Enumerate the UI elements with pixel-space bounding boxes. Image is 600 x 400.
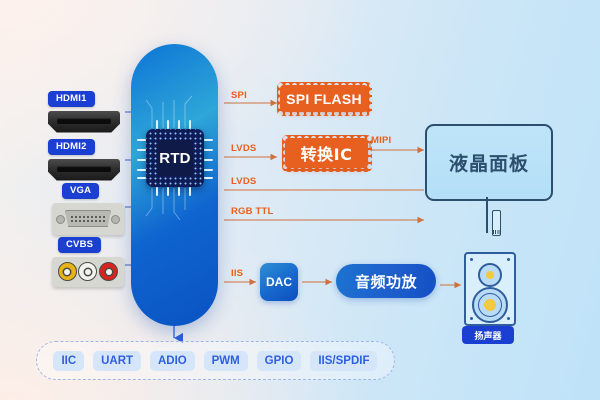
signal-label-spi: SPI (231, 90, 247, 101)
dac-label: DAC (266, 275, 292, 289)
peripheral-iis-spdif[interactable]: IIS/SPDIF (310, 351, 377, 371)
vga-port-icon (52, 203, 124, 235)
input-hdmi1[interactable]: HDMI1 (48, 88, 120, 133)
audio-amplifier-label: 音频功放 (355, 271, 417, 292)
speaker-icon[interactable] (464, 252, 516, 326)
signal-label-iis: IIS (231, 268, 243, 279)
rca-yellow-icon (58, 262, 77, 281)
lcd-backlight-tube-icon (492, 210, 501, 236)
peripheral-pwm[interactable]: PWM (204, 351, 248, 371)
rca-white-icon (78, 262, 97, 281)
peripheral-gpio[interactable]: GPIO (257, 351, 302, 371)
signal-label-mipi: MIPI (371, 135, 391, 146)
spi-flash-label: SPI FLASH (280, 85, 368, 112)
input-vga[interactable]: VGA (52, 180, 124, 235)
signal-label-rgb-ttl: RGB TTL (231, 206, 274, 217)
input-cvbs[interactable]: CVBS (52, 234, 124, 287)
rca-red-icon (99, 262, 118, 281)
input-hdmi2-badge: HDMI2 (48, 139, 95, 155)
block-dac[interactable]: DAC (260, 263, 298, 301)
signal-label-lvds-1: LVDS (231, 143, 256, 154)
input-cvbs-badge: CVBS (58, 237, 101, 253)
cvbs-port-icon (52, 257, 124, 287)
block-lcd-panel[interactable]: 液晶面板 (425, 124, 553, 201)
input-hdmi2[interactable]: HDMI2 (48, 136, 120, 181)
block-audio-amplifier[interactable]: 音频功放 (336, 264, 436, 298)
lcd-panel-stand (486, 197, 488, 233)
lcd-panel-label: 液晶面板 (449, 149, 529, 176)
block-spi-flash[interactable]: SPI FLASH (280, 85, 368, 112)
peripheral-iic[interactable]: IIC (53, 351, 84, 371)
diagram-canvas: RTD HDMI1 HDMI2 VGA CVBS (0, 0, 600, 400)
input-hdmi1-badge: HDMI1 (48, 91, 95, 107)
block-converter-ic[interactable]: 转换IC (285, 138, 368, 168)
peripheral-uart[interactable]: UART (93, 351, 141, 371)
peripheral-adio[interactable]: ADIO (150, 351, 195, 371)
hdmi2-port-icon (48, 159, 120, 181)
input-vga-badge: VGA (62, 183, 99, 199)
peripherals-bar: IIC UART ADIO PWM GPIO IIS/SPDIF (36, 341, 395, 380)
signal-label-lvds-2: LVDS (231, 176, 256, 187)
speaker-label: 扬声器 (462, 326, 514, 344)
speaker-woofer-icon (472, 287, 508, 323)
speaker-tweeter-icon (478, 263, 502, 287)
converter-ic-label: 转换IC (285, 138, 368, 168)
hdmi1-port-icon (48, 111, 120, 133)
